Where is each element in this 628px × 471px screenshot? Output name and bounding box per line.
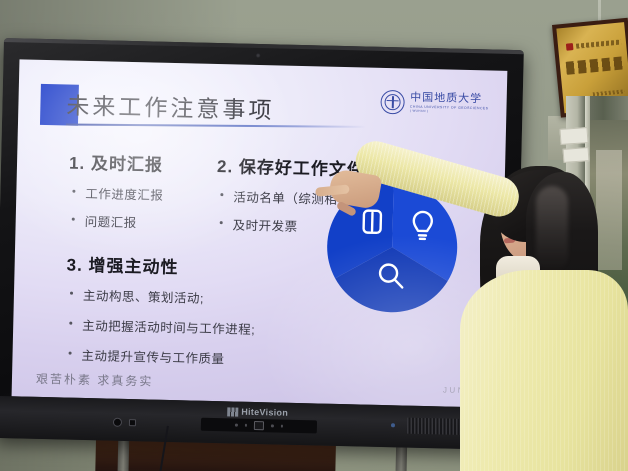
- slide-title: 未来工作注意事项: [66, 86, 275, 125]
- brand-logo-icon: [227, 407, 238, 416]
- bullet-item: 工作进度汇报: [68, 183, 238, 206]
- wall-note: [559, 127, 588, 145]
- indicator-dot: [235, 424, 238, 427]
- plaque-title-text: [566, 56, 625, 74]
- section-bullet-list: 主动构思、策划活动; 主动把握活动时间与工作进程; 主动提升宣传与工作质量: [64, 285, 366, 371]
- bullet-item: 主动把握活动时间与工作进程;: [65, 315, 365, 341]
- brand-name-text: HiteVision: [241, 407, 288, 418]
- seal-bar: [387, 100, 399, 102]
- section-heading: 1. 及时汇报: [69, 149, 240, 178]
- section-bullet-list: 工作进度汇报 问题汇报: [68, 183, 239, 234]
- presenter: [330, 152, 628, 471]
- sweater-texture: [460, 270, 628, 471]
- university-seal-icon: [381, 90, 406, 115]
- io-ports[interactable]: [113, 418, 136, 428]
- device-brand: HiteVision: [227, 406, 288, 417]
- slide-section-1: 1. 及时汇报 工作进度汇报 问题汇报: [67, 149, 239, 243]
- audio-jack-port[interactable]: [113, 418, 122, 427]
- photo-scene: 未来工作注意事项 中国地质大学 CHINA UNIVERSITY OF GEOS…: [0, 0, 628, 471]
- university-name-cn: 中国地质大学: [410, 92, 489, 105]
- indicator-dot: [280, 425, 283, 428]
- usb-port[interactable]: [129, 419, 136, 426]
- control-panel[interactable]: [201, 418, 317, 434]
- indicator-dot: [244, 424, 247, 427]
- indicator-dot: [271, 425, 274, 428]
- pointing-hand: [327, 168, 382, 210]
- bullet-item: 主动提升宣传与工作质量: [64, 345, 364, 371]
- university-campus-en: ( WUHAN ): [410, 110, 489, 115]
- power-button[interactable]: [254, 421, 264, 430]
- slide-section-3: 3. 增强主动性 主动构思、策划活动; 主动把握活动时间与工作进程; 主动提升宣…: [64, 251, 367, 382]
- title-underline: [66, 123, 366, 127]
- university-logo-text: 中国地质大学 CHINA UNIVERSITY OF GEOSCIENCES (…: [410, 92, 489, 114]
- hair-highlight: [536, 186, 568, 272]
- thumb: [336, 201, 357, 217]
- camera-icon: [256, 53, 261, 58]
- bullet-item: 问题汇报: [68, 211, 238, 234]
- party-emblem-icon: [566, 43, 574, 51]
- slide-motto: 艰苦朴素 求真务实: [36, 370, 154, 390]
- university-logo: 中国地质大学 CHINA UNIVERSITY OF GEOSCIENCES (…: [381, 90, 489, 117]
- plaque-subtitle-text: [576, 39, 621, 48]
